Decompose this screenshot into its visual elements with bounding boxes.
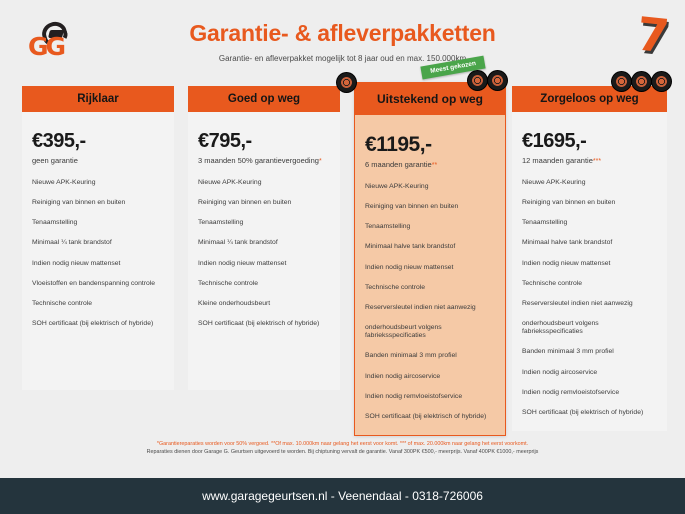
feature-item: Minimaal halve tank brandstof <box>365 243 495 251</box>
tire-rim-icon <box>636 76 647 87</box>
feature-item: Indien nodig nieuw mattenset <box>522 260 657 268</box>
feature-item: Minimaal ¼ tank brandstof <box>198 239 330 247</box>
package-body: €1695,- 12 maanden garantie*** Nieuwe AP… <box>512 112 667 431</box>
footnote-part-b: **Of max. 10.000km naar gelang het eerst… <box>271 441 400 447</box>
tire-icon <box>468 71 487 90</box>
feature-item: Tenaamstelling <box>365 223 495 231</box>
package-title: Rijklaar <box>22 86 174 112</box>
tire-icon <box>488 71 507 90</box>
footnote-line-1: *Garantiereparaties worden voor 50% verg… <box>120 440 565 448</box>
page-header: GG 7 Garantie- & afleverpakketten Garant… <box>0 0 685 82</box>
package-body: €1195,- 6 maanden garantie** Nieuwe APK-… <box>355 115 505 435</box>
promo-page: GG 7 Garantie- & afleverpakketten Garant… <box>0 0 685 514</box>
feature-item: Reserversleutel indien niet aanwezig <box>365 304 495 312</box>
feature-item: Indien nodig nieuw mattenset <box>198 260 330 268</box>
footer-contact-text: www.garagegeurtsen.nl - Veenendaal - 031… <box>202 489 483 503</box>
feature-item: Nieuwe APK-Keuring <box>198 179 330 187</box>
feature-item: Technische controle <box>522 280 657 288</box>
tire-icon <box>652 72 671 91</box>
feature-item: Tenaamstelling <box>522 219 657 227</box>
feature-item: Technische controle <box>32 300 164 308</box>
package-body: €795,- 3 maanden 50% garantievergoeding*… <box>188 112 340 390</box>
guarantee-footnote-marker: *** <box>593 158 601 165</box>
feature-item: Nieuwe APK-Keuring <box>365 183 495 191</box>
feature-item: onderhoudsbeurt volgens fabrieksspecific… <box>522 320 657 336</box>
guarantee-text: 3 maanden 50% garantievergoeding <box>198 156 319 165</box>
tire-rating-badges <box>337 73 356 92</box>
anniversary-seven-badge: 7 <box>635 10 672 59</box>
page-title: Garantie- & afleverpakketten <box>0 0 685 47</box>
package-card-zorgeloos-op-weg[interactable]: Zorgeloos op weg €1695,- 12 maanden gara… <box>512 86 667 431</box>
package-columns: Rijklaar €395,- geen garantie Nieuwe APK… <box>0 86 685 436</box>
tire-rim-icon <box>472 75 483 86</box>
package-card-goed-op-weg[interactable]: Goed op weg €795,- 3 maanden 50% garanti… <box>188 86 340 390</box>
feature-item: SOH certificaat (bij elektrisch of hybri… <box>365 413 495 421</box>
feature-item: Tenaamstelling <box>32 219 164 227</box>
package-body: €395,- geen garantie Nieuwe APK-Keuring … <box>22 112 174 390</box>
feature-item: Indien nodig nieuw mattenset <box>32 260 164 268</box>
package-card-rijklaar[interactable]: Rijklaar €395,- geen garantie Nieuwe APK… <box>22 86 174 390</box>
guarantee-footnote-marker: ** <box>432 162 437 169</box>
footnote-part-c: *** of max. 20.000km naar gelang het eer… <box>400 441 528 447</box>
feature-item: Nieuwe APK-Keuring <box>522 179 657 187</box>
feature-item: Nieuwe APK-Keuring <box>32 179 164 187</box>
package-price: €1195,- <box>365 133 495 157</box>
feature-item: Indien nodig remvloeistofservice <box>365 393 495 401</box>
feature-item: SOH certificaat (bij elektrisch of hybri… <box>32 320 164 328</box>
feature-item: Reiniging van binnen en buiten <box>198 199 330 207</box>
footnote-disclaimer: *Garantiereparaties worden voor 50% verg… <box>0 440 685 457</box>
guarantee-text: 12 maanden garantie <box>522 156 593 165</box>
guarantee-footnote-marker: * <box>319 158 322 165</box>
feature-item: Banden minimaal 3 mm profiel <box>522 348 657 356</box>
garage-geurtsen-logo: GG <box>22 16 80 62</box>
package-guarantee: 6 maanden garantie** <box>365 160 495 169</box>
guarantee-text: geen garantie <box>32 156 78 165</box>
package-price: €795,- <box>198 130 330 153</box>
logo-text: GG <box>28 32 63 61</box>
package-guarantee: 3 maanden 50% garantievergoeding* <box>198 156 330 165</box>
feature-item: Banden minimaal 3 mm profiel <box>365 352 495 360</box>
feature-item: Indien nodig aircoservice <box>522 369 657 377</box>
tire-rim-icon <box>656 76 667 87</box>
feature-item: SOH certificaat (bij elektrisch of hybri… <box>198 320 330 328</box>
feature-item: Vloeistoffen en bandenspanning controle <box>32 280 164 288</box>
tire-rim-icon <box>492 75 503 86</box>
tire-icon <box>612 72 631 91</box>
tire-rim-icon <box>616 76 627 87</box>
feature-item: Reiniging van binnen en buiten <box>365 203 495 211</box>
page-subtitle: Garantie- en afleverpakket mogelijk tot … <box>0 54 685 63</box>
package-guarantee: 12 maanden garantie*** <box>522 156 657 165</box>
package-price: €1695,- <box>522 130 657 153</box>
package-title: Goed op weg <box>188 86 340 112</box>
package-price: €395,- <box>32 130 164 153</box>
feature-item: Indien nodig nieuw mattenset <box>365 264 495 272</box>
feature-item: Minimaal halve tank brandstof <box>522 239 657 247</box>
tire-icon <box>337 73 356 92</box>
package-guarantee: geen garantie <box>32 156 164 165</box>
feature-item: Indien nodig aircoservice <box>365 373 495 381</box>
feature-item: Reserversleutel indien niet aanwezig <box>522 300 657 308</box>
feature-item: Tenaamstelling <box>198 219 330 227</box>
feature-item: Technische controle <box>365 284 495 292</box>
tire-rating-badges <box>612 72 671 91</box>
feature-item: SOH certificaat (bij elektrisch of hybri… <box>522 409 657 417</box>
feature-item: Reiniging van binnen en buiten <box>32 199 164 207</box>
feature-item: Minimaal ¼ tank brandstof <box>32 239 164 247</box>
footnote-part-a: *Garantiereparaties worden voor 50% verg… <box>157 441 271 447</box>
feature-item: Indien nodig remvloeistofservice <box>522 389 657 397</box>
feature-item: Reiniging van binnen en buiten <box>522 199 657 207</box>
tire-icon <box>632 72 651 91</box>
tire-rim-icon <box>341 77 352 88</box>
feature-item: onderhoudsbeurt volgens fabrieksspecific… <box>365 324 495 340</box>
tire-rating-badges <box>468 71 507 90</box>
footnote-line-2: Reparaties dienen door Garage G. Geurtse… <box>120 448 565 456</box>
feature-item: Technische controle <box>198 280 330 288</box>
guarantee-text: 6 maanden garantie <box>365 160 432 169</box>
package-card-uitstekend-op-weg[interactable]: Meest gekozen Uitstekend op weg €1195,- … <box>354 82 506 436</box>
footer-bar: www.garagegeurtsen.nl - Veenendaal - 031… <box>0 478 685 514</box>
feature-item: Kleine onderhoudsbeurt <box>198 300 330 308</box>
